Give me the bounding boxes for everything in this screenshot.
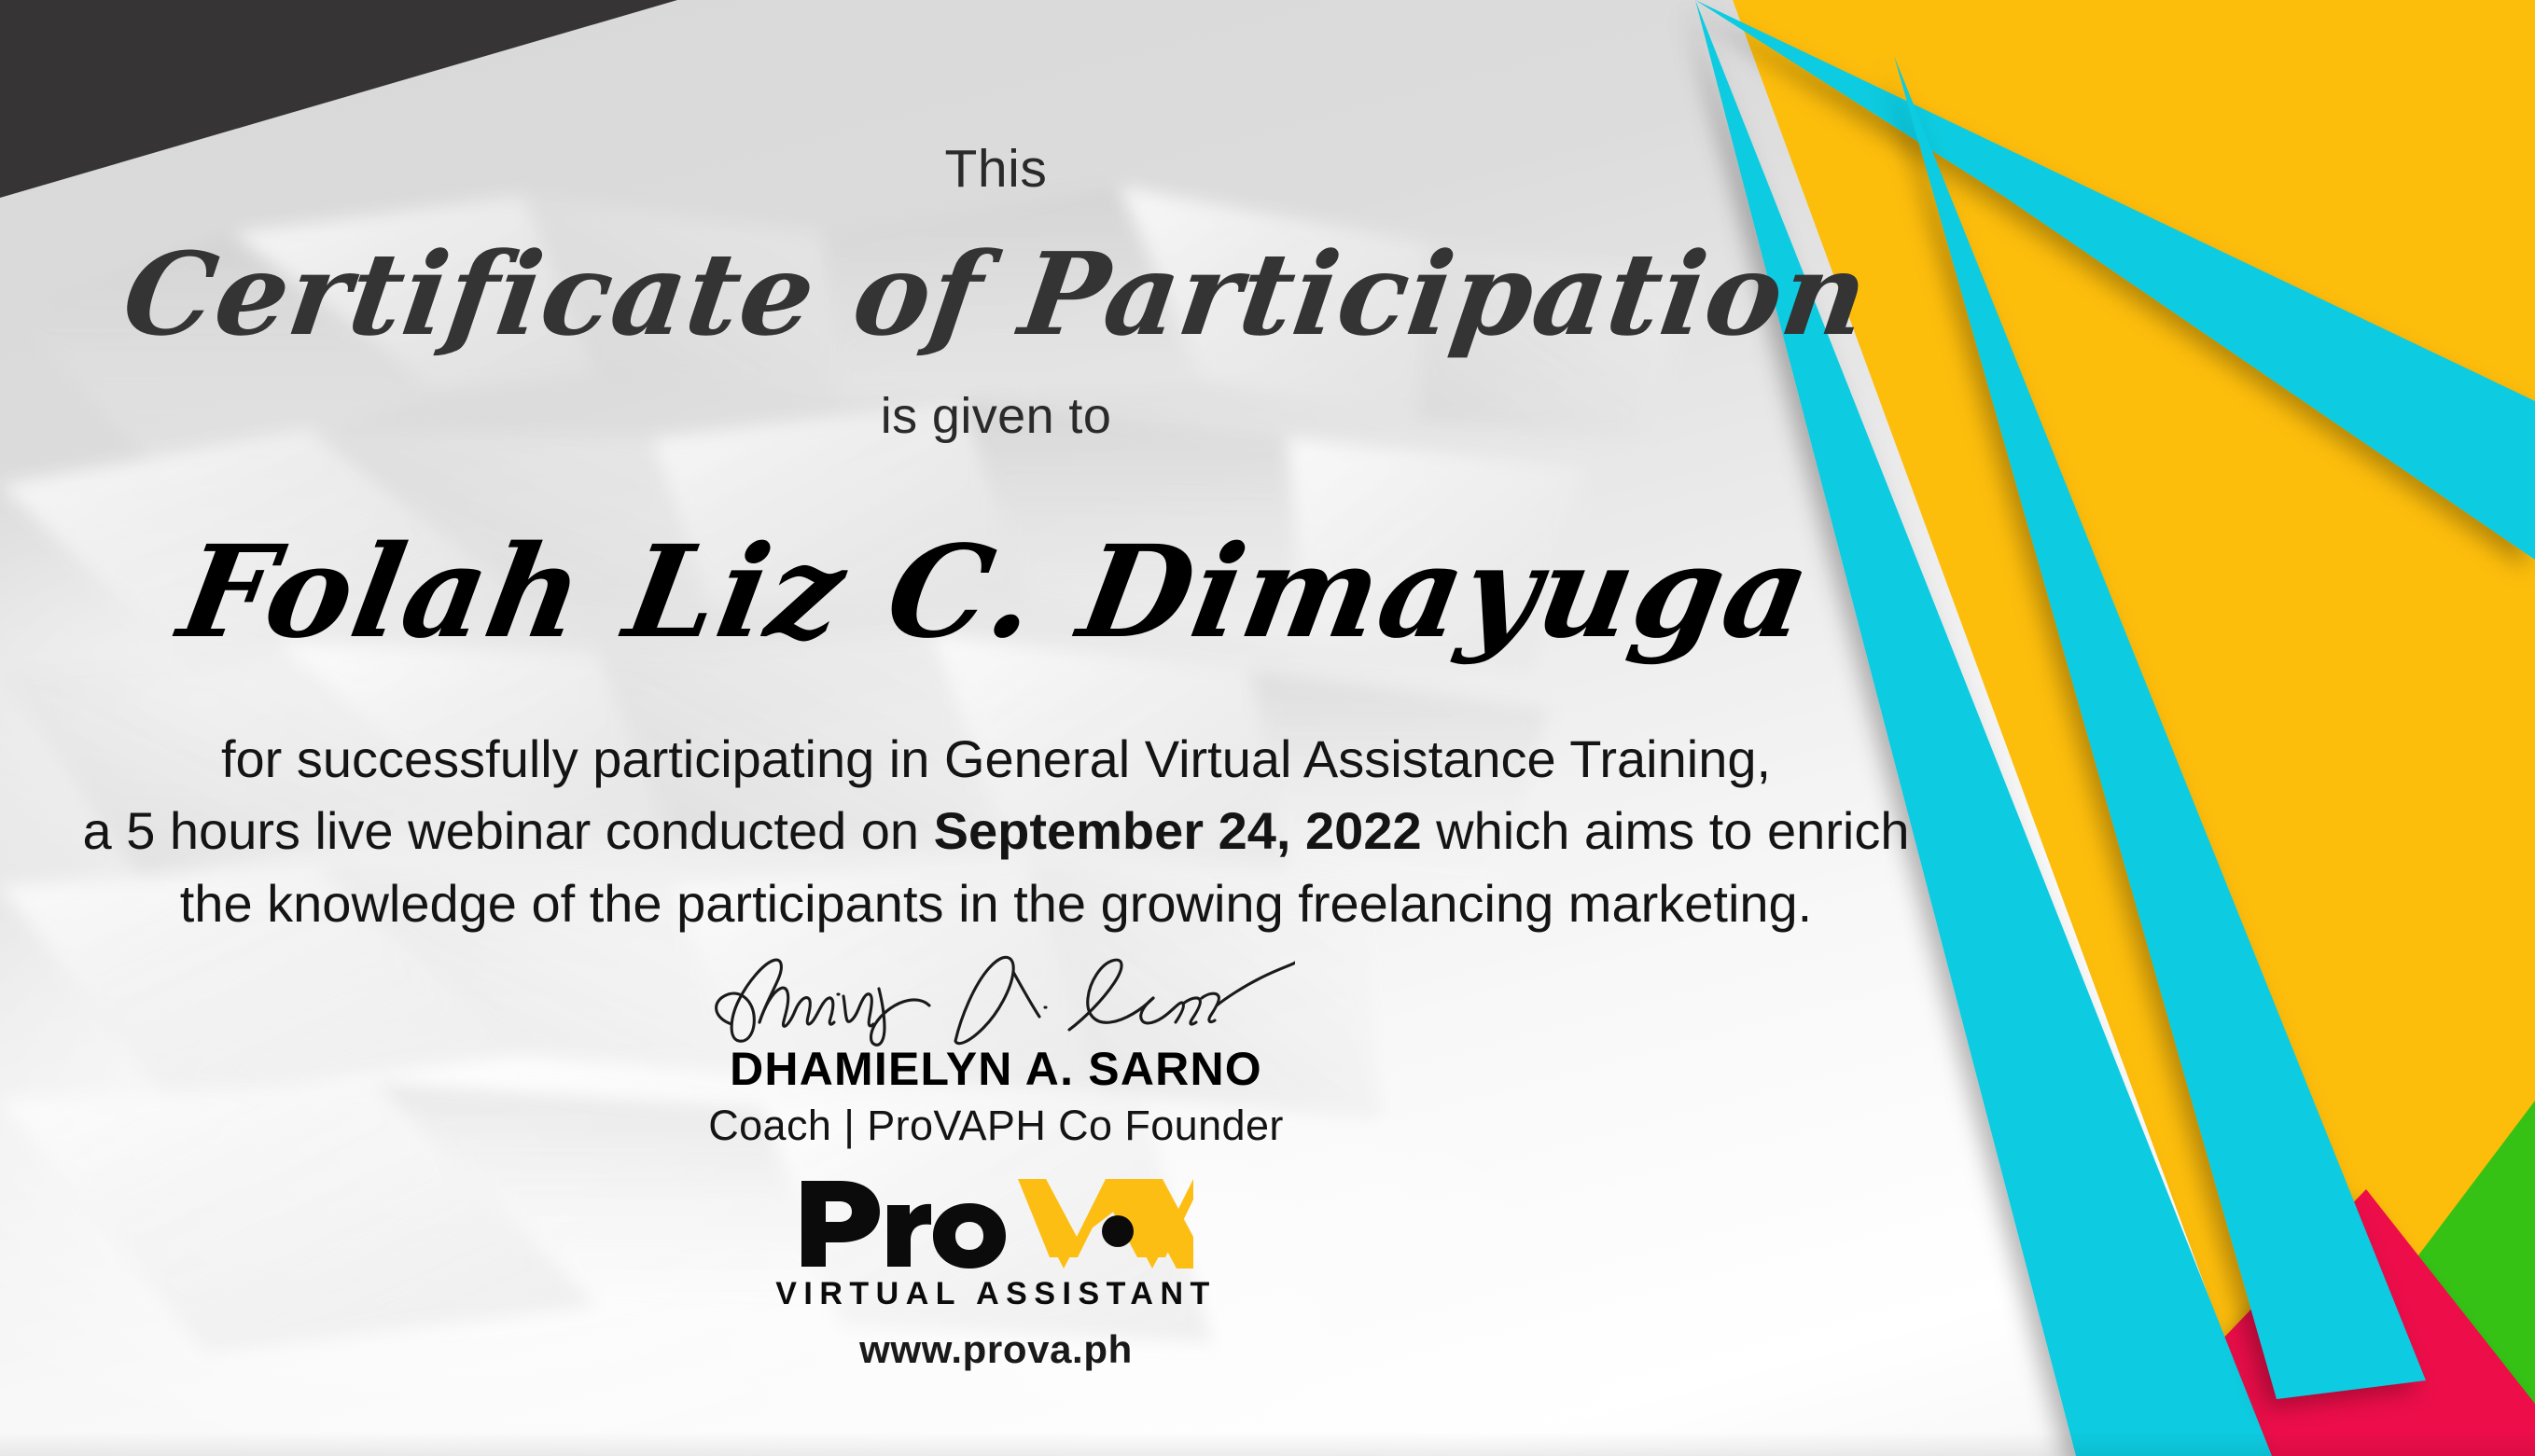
handwritten-signature-icon <box>698 951 1295 1049</box>
body-line-3: the knowledge of the participants in the… <box>0 867 1992 939</box>
logo-tagline: VIRTUAL ASSISTANT <box>0 1276 1992 1312</box>
given-to-label: is given to <box>0 387 1992 445</box>
certificate-canvas: This Certificate of Participation is giv… <box>0 0 2535 1456</box>
kicker-text: This <box>0 138 1992 200</box>
body-paragraph: for successfully participating in Genera… <box>0 723 1992 939</box>
body-line-1: for successfully participating in Genera… <box>0 723 1992 795</box>
body-line-2-prefix: a 5 hours live webinar conducted on <box>83 801 934 860</box>
signatory-role: Coach | ProVAPH Co Founder <box>0 1102 1992 1150</box>
signatory-name: DHAMIELYN A. SARNO <box>0 1042 1992 1096</box>
body-line-2-suffix: which aims to enrich <box>1422 801 1910 860</box>
certificate-content: This Certificate of Participation is giv… <box>0 0 1992 1456</box>
body-line-2: a 5 hours live webinar conducted on Sept… <box>0 795 1992 867</box>
signature-block: DHAMIELYN A. SARNO Coach | ProVAPH Co Fo… <box>0 951 1992 1150</box>
brand-logo-block: VIRTUAL ASSISTANT www.prova.ph <box>0 1177 1992 1372</box>
logo-website: www.prova.ph <box>0 1327 1992 1372</box>
event-date: September 24, 2022 <box>934 801 1422 860</box>
page-title: Certificate of Participation <box>0 227 2001 361</box>
recipient-name: Folah Liz C. Dimayuga <box>0 518 2005 667</box>
bottom-edge-shade <box>0 1432 2535 1456</box>
prova-logo-icon <box>796 1177 1197 1274</box>
logo-dot-icon <box>1102 1215 1134 1247</box>
